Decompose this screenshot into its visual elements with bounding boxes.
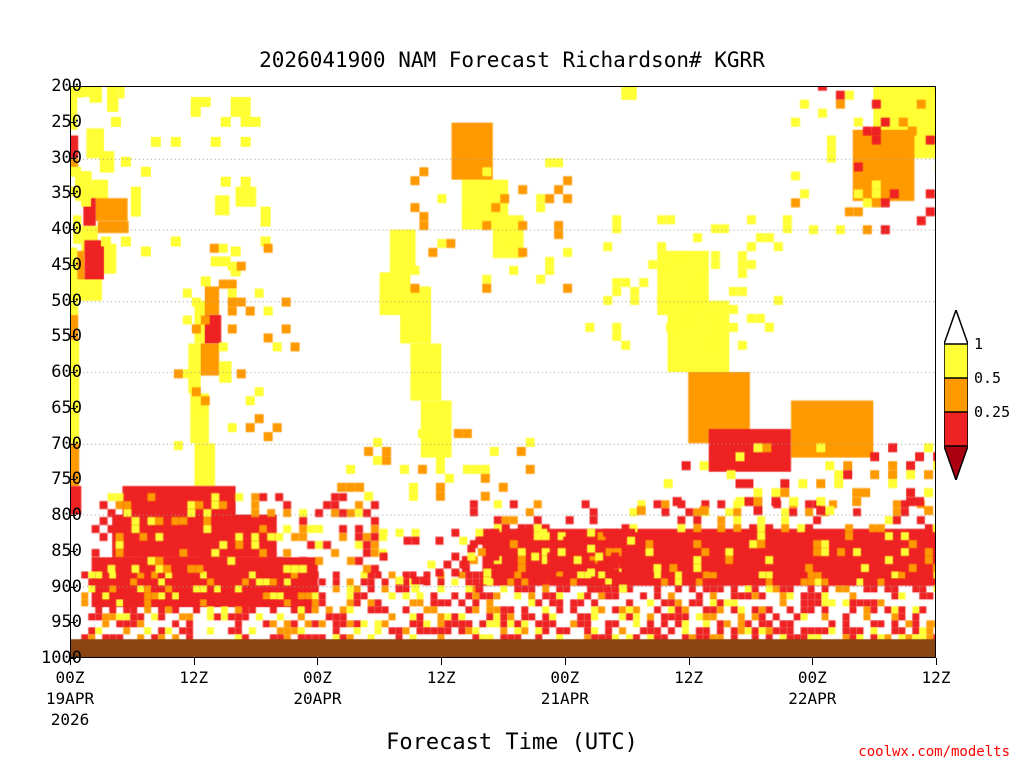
- y-tick-label: 800: [51, 505, 82, 525]
- y-tick-label: 850: [51, 541, 82, 561]
- chart-root: 2026041900 NAM Forecast Richardson# KGRR…: [0, 0, 1024, 768]
- chart-title: 2026041900 NAM Forecast Richardson# KGRR: [0, 48, 1024, 72]
- y-tick-label: 400: [51, 219, 82, 239]
- y-tick-label: 700: [51, 434, 82, 454]
- x-tick-mark: [441, 658, 442, 665]
- x-tick-mark: [194, 658, 195, 665]
- y-tick-mark: [70, 86, 76, 87]
- plot-area: [70, 86, 936, 658]
- y-tick-mark: [70, 193, 76, 194]
- y-tick-label: 200: [51, 76, 82, 96]
- y-tick-mark: [70, 587, 76, 588]
- y-tick-label: 300: [51, 148, 82, 168]
- x-tick-label: 00Z: [798, 668, 827, 687]
- x-tick-sublabel: 22APR: [788, 689, 836, 708]
- colorbar-tick-label: 0.25: [974, 403, 1010, 421]
- y-tick-mark: [70, 336, 76, 337]
- x-tick-label: 00Z: [56, 668, 85, 687]
- x-tick-label: 12Z: [922, 668, 951, 687]
- x-tick-label: 12Z: [427, 668, 456, 687]
- y-tick-mark: [70, 122, 76, 123]
- x-tick-mark: [317, 658, 318, 665]
- x-tick-sublabel: 20APR: [293, 689, 341, 708]
- y-tick-mark: [70, 408, 76, 409]
- y-tick-mark: [70, 229, 76, 230]
- y-tick-mark: [70, 301, 76, 302]
- y-tick-mark: [70, 444, 76, 445]
- x-tick-label: 12Z: [674, 668, 703, 687]
- y-tick-mark: [70, 265, 76, 266]
- colorbar-tick-label: 0.5: [974, 369, 1001, 387]
- y-tick-mark: [70, 479, 76, 480]
- y-tick-label: 250: [51, 112, 82, 132]
- colorbar-outline-icon: [944, 310, 968, 480]
- y-tick-mark: [70, 551, 76, 552]
- y-tick-mark: [70, 372, 76, 373]
- x-tick-mark: [70, 658, 71, 665]
- y-tick-mark: [70, 622, 76, 623]
- x-tick-mark: [689, 658, 690, 665]
- y-tick-label: 650: [51, 398, 82, 418]
- x-tick-label: 00Z: [303, 668, 332, 687]
- y-tick-label: 750: [51, 469, 82, 489]
- colorbar-tick-label: 1: [974, 335, 983, 353]
- y-tick-mark: [70, 158, 76, 159]
- y-tick-label: 600: [51, 362, 82, 382]
- x-tick-sublabel: 19APR: [46, 689, 94, 708]
- x-tick-mark: [565, 658, 566, 665]
- y-tick-mark: [70, 515, 76, 516]
- y-tick-label: 900: [51, 577, 82, 597]
- x-tick-mark: [812, 658, 813, 665]
- x-tick-sublabel: 21APR: [541, 689, 589, 708]
- y-tick-label: 450: [51, 255, 82, 275]
- x-tick-mark: [936, 658, 937, 665]
- y-tick-label: 350: [51, 183, 82, 203]
- y-tick-label: 500: [51, 291, 82, 311]
- gridlines-canvas: [71, 87, 935, 657]
- x-tick-year-label: 2026: [51, 710, 90, 729]
- y-tick-label: 550: [51, 326, 82, 346]
- credit-watermark: coolwx.com/modelts: [858, 744, 1010, 760]
- colorbar: [944, 310, 968, 480]
- y-tick-label: 950: [51, 612, 82, 632]
- x-tick-label: 12Z: [179, 668, 208, 687]
- x-tick-label: 00Z: [550, 668, 579, 687]
